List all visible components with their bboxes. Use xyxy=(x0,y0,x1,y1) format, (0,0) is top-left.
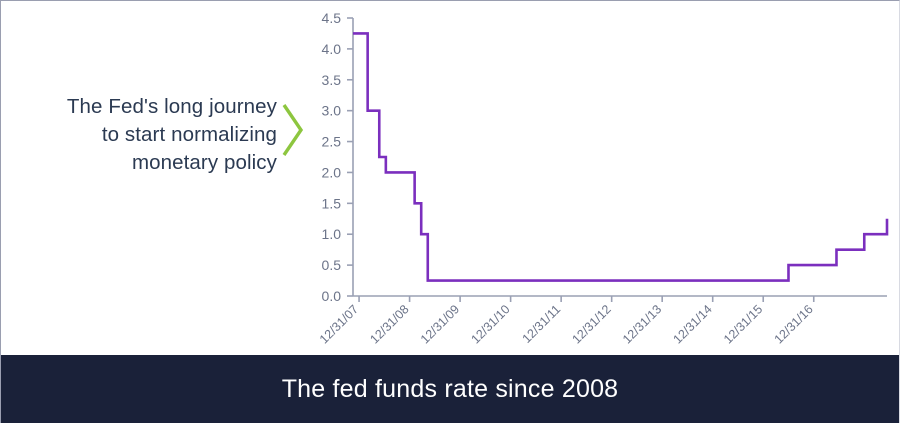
fed-funds-rate-line xyxy=(353,33,887,280)
x-tick-label: 12/31/07 xyxy=(317,302,361,346)
y-tick-label: 2.5 xyxy=(322,134,342,150)
x-tick-label: 12/31/12 xyxy=(569,302,613,346)
y-tick-label: 0.0 xyxy=(322,288,342,304)
y-tick-label: 0.5 xyxy=(322,257,342,273)
y-axis: 0.00.51.01.52.02.53.03.54.04.5 xyxy=(322,10,353,304)
y-tick-label: 1.5 xyxy=(322,195,342,211)
infographic-canvas: The Fed's long journey to start normaliz… xyxy=(0,0,900,423)
headline-block: The Fed's long journey to start normaliz… xyxy=(15,93,277,177)
x-tick-label: 12/31/09 xyxy=(418,302,462,346)
x-tick-label: 12/31/08 xyxy=(367,302,411,346)
fed-funds-rate-chart: 0.00.51.01.52.02.53.03.54.04.5 12/31/071… xyxy=(311,5,891,350)
x-tick-label: 12/31/10 xyxy=(468,302,512,346)
caption-bar: The fed funds rate since 2008 xyxy=(1,355,899,423)
caption-title: The fed funds rate since 2008 xyxy=(282,375,619,404)
y-tick-label: 3.5 xyxy=(322,72,342,88)
headline-line-3: monetary policy xyxy=(15,149,277,177)
x-tick-label: 12/31/14 xyxy=(671,302,715,346)
chart-svg: 0.00.51.01.52.02.53.03.54.04.5 12/31/071… xyxy=(311,5,891,350)
y-tick-label: 1.0 xyxy=(322,226,342,242)
x-axis: 12/31/0712/31/0812/31/0912/31/1012/31/11… xyxy=(317,296,887,347)
x-tick-label: 12/31/13 xyxy=(620,302,664,346)
x-tick-label: 12/31/16 xyxy=(772,302,816,346)
x-tick-label: 12/31/11 xyxy=(520,302,564,346)
y-tick-label: 3.0 xyxy=(322,103,342,119)
headline-line-2: to start normalizing xyxy=(15,121,277,149)
x-tick-label: 12/31/15 xyxy=(721,302,765,346)
y-tick-label: 4.0 xyxy=(322,41,342,57)
y-tick-label: 4.5 xyxy=(322,10,342,26)
chevron-right-icon xyxy=(280,101,306,159)
headline-line-1: The Fed's long journey xyxy=(15,93,277,121)
y-tick-label: 2.0 xyxy=(322,164,342,180)
